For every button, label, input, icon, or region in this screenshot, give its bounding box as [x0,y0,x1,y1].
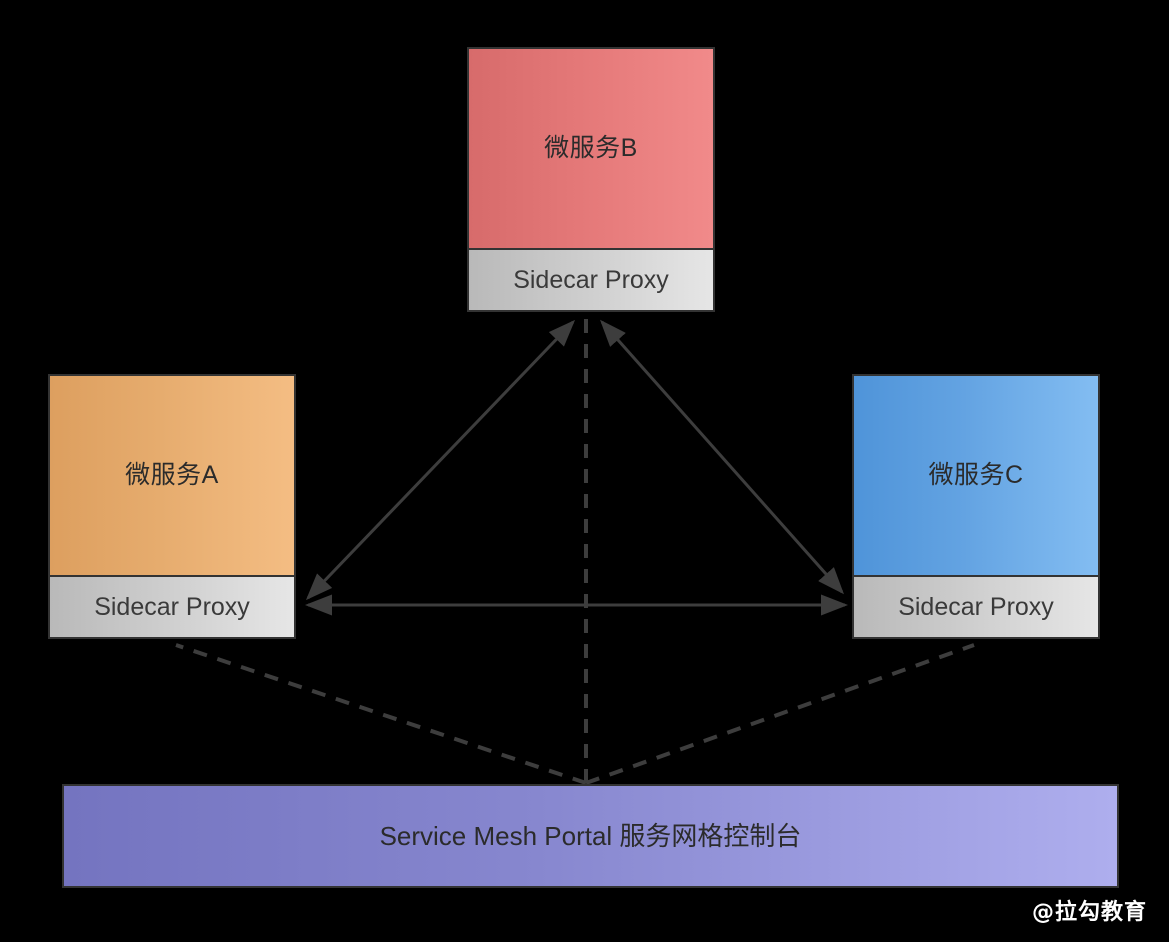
connection-portal-to-a [176,645,586,783]
connection-portal-to-c [586,645,974,783]
watermark: @拉勾教育 [1032,894,1147,926]
service-node-a-sidecar[interactable]: Sidecar Proxy [50,575,294,637]
service-node-b-label: 微服务B [469,49,713,248]
service-node-b-sidecar[interactable]: Sidecar Proxy [469,248,713,310]
connection-b-to-c [602,322,842,592]
service-node-b[interactable]: 微服务B Sidecar Proxy [467,47,715,312]
service-node-a-label: 微服务A [50,376,294,575]
connection-a-to-b [308,322,573,598]
service-node-c[interactable]: 微服务C Sidecar Proxy [852,374,1100,639]
service-node-c-sidecar[interactable]: Sidecar Proxy [854,575,1098,637]
service-node-c-label: 微服务C [854,376,1098,575]
service-node-a[interactable]: 微服务A Sidecar Proxy [48,374,296,639]
service-mesh-portal[interactable]: Service Mesh Portal 服务网格控制台 [62,784,1119,888]
diagram-canvas: 微服务B Sidecar Proxy 微服务A Sidecar Proxy 微服… [0,0,1169,942]
